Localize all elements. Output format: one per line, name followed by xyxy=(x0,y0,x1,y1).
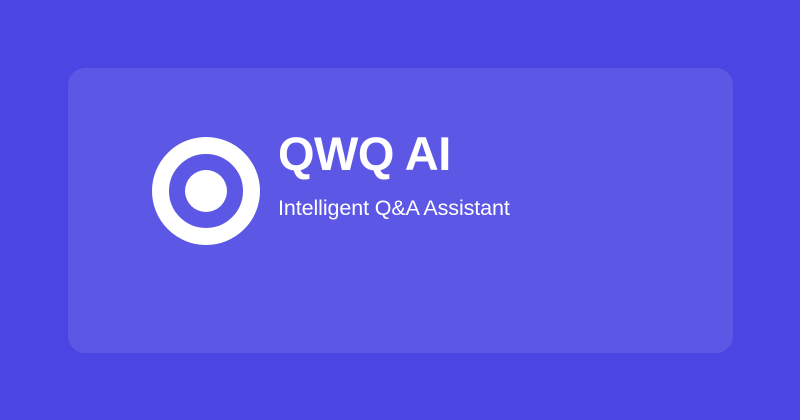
app-root: QWQ AI Intelligent Q&A Assistant xyxy=(0,0,800,420)
page-title: QWQ AI xyxy=(278,130,698,177)
concentric-circle-logo xyxy=(152,137,260,245)
brand-card: QWQ AI Intelligent Q&A Assistant xyxy=(68,68,733,353)
brand-text-block: QWQ AI Intelligent Q&A Assistant xyxy=(278,130,698,220)
page-subtitle: Intelligent Q&A Assistant xyxy=(278,177,698,220)
